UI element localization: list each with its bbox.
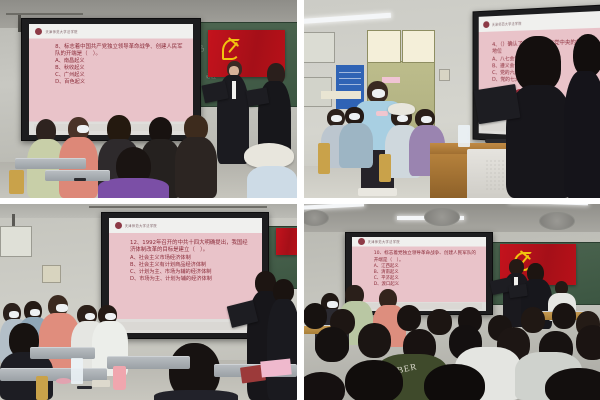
- black-folder: [473, 84, 520, 124]
- smartphone: [77, 386, 92, 389]
- tissue-box: [92, 380, 110, 387]
- photo-collage: 乃 宁 必胜 天津师范大学法学院 8、标志着中国共产党独立领导革命战争、创建人民…: [0, 0, 600, 400]
- face-mask: [77, 125, 89, 133]
- wall-notice: [42, 265, 62, 283]
- pink-notebook: [261, 358, 292, 377]
- collage-photo-top-left[interactable]: 乃 宁 必胜 天津师范大学法学院 8、标志着中国共产党独立领导革命战争、创建人民…: [0, 0, 297, 198]
- chair: [36, 376, 48, 400]
- collage-gutter-horizontal: [0, 198, 600, 204]
- hand-sanitizer: [458, 125, 470, 147]
- wall-switch: [439, 69, 450, 81]
- slide-header: 天津师范大学法学院: [358, 238, 452, 245]
- party-flag: [276, 228, 297, 254]
- collage-photo-bottom-right[interactable]: 宁 清风 天津师范大学法学院 10、标志着党独立领导革命战争、创建人民军队的开端…: [297, 198, 600, 400]
- student-desk: [0, 368, 107, 381]
- slide-option-d: D、百色起义: [55, 79, 183, 86]
- wall-window: [0, 226, 32, 256]
- slide-option-d: D、渡口起义: [374, 282, 478, 288]
- wall-label-strip: [321, 91, 360, 99]
- slide-header: 天津师范大学法学院: [115, 221, 222, 231]
- collage-photo-bottom-left[interactable]: 天津师范大学法学院 12、1992年召开的中共十四大明确提出，我国经济体制改革的…: [0, 198, 297, 400]
- water-bottle: [71, 358, 83, 384]
- sneakers: [358, 188, 397, 196]
- slide-header-text: 天津师范大学法学院: [368, 239, 400, 244]
- projection-screen[interactable]: 天津师范大学法学院 10、标志着党独立领导革命战争、创建人民军队的开端是（ ）。…: [345, 232, 492, 315]
- door-transom-window: [367, 30, 401, 64]
- university-logo-icon: [115, 222, 122, 229]
- slide-header-text: 天津师范大学法学院: [45, 29, 77, 34]
- bucket-hat: [244, 143, 294, 169]
- ceiling-fan: [424, 208, 459, 226]
- door-transom-window: [402, 30, 436, 64]
- slide-header: 天津师范大学法学院: [483, 15, 568, 29]
- pink-note: [382, 77, 400, 83]
- slide-header-text: 天津师范大学法学院: [492, 21, 522, 27]
- pink-case: [56, 378, 71, 384]
- slide-option-a: A、社会主义市场经济体制: [130, 255, 249, 262]
- slide-option-d: D、市场为主、计划为辅的经济体制: [130, 276, 249, 283]
- slide-option-b: B、社会主义有计划商品经济体制: [130, 262, 249, 269]
- smartphone: [74, 178, 86, 181]
- thermos-bottle: [113, 366, 126, 390]
- slide-body: 12、1992年召开的中共十四大明确提出，我国经济体制改革的目标是建立（ ）。 …: [130, 240, 249, 283]
- collage-photo-top-right[interactable]: 天津师范大学法学院 4、（）确认了毛泽东同志在党中央的领导地位 A、八七会议 B…: [297, 0, 600, 198]
- lectern-body: [430, 154, 466, 198]
- university-logo-icon: [35, 28, 42, 35]
- slide-body: 8、标志着中国共产党独立领导革命战争、创建人民军队的开端是（ ）。 A、南昌起义…: [55, 44, 183, 87]
- slide-body: 10、标志着党独立领导革命战争、创建人民军队的开端是（ ）。 A、江西起义 B、…: [374, 251, 478, 287]
- student-desk: [15, 158, 86, 169]
- screen-surface: 天津师范大学法学院 10、标志着党独立领导革命战争、创建人民军队的开端是（ ）。…: [352, 237, 486, 311]
- slide-option-c: C、计划为主、市场为辅的经济体制: [130, 269, 249, 276]
- ceiling-rail: [6, 13, 83, 15]
- slide-question: 12、1992年召开的中共十四大明确提出，我国经济体制改革的目标是建立（ ）。: [130, 240, 249, 255]
- chair: [379, 154, 391, 182]
- university-logo-icon: [483, 21, 489, 28]
- student-desk: [30, 347, 95, 358]
- chair: [318, 143, 330, 175]
- slide-quiz-question: 天津师范大学法学院 10、标志着党独立领导革命战争、创建人民军队的开端是（ ）。…: [352, 237, 486, 311]
- ceiling-rail: [89, 206, 267, 208]
- slide-question: 8、标志着中国共产党独立领导革命战争、创建人民军队的开端是（ ）。: [55, 44, 183, 59]
- face-mask: [372, 89, 386, 98]
- bucket-hat: [388, 103, 415, 115]
- ceiling-fan: [539, 212, 574, 230]
- university-logo-icon: [358, 238, 365, 245]
- sweatshirt-logo: [376, 111, 388, 116]
- hammer-sickle-emblem: [220, 37, 243, 58]
- slide-header-text: 天津师范大学法学院: [125, 223, 157, 228]
- slide-header: 天津师范大学法学院: [35, 26, 150, 36]
- chair: [9, 170, 24, 194]
- slide-question: 10、标志着党独立领导革命战争、创建人民军队的开端是（ ）。: [374, 251, 478, 263]
